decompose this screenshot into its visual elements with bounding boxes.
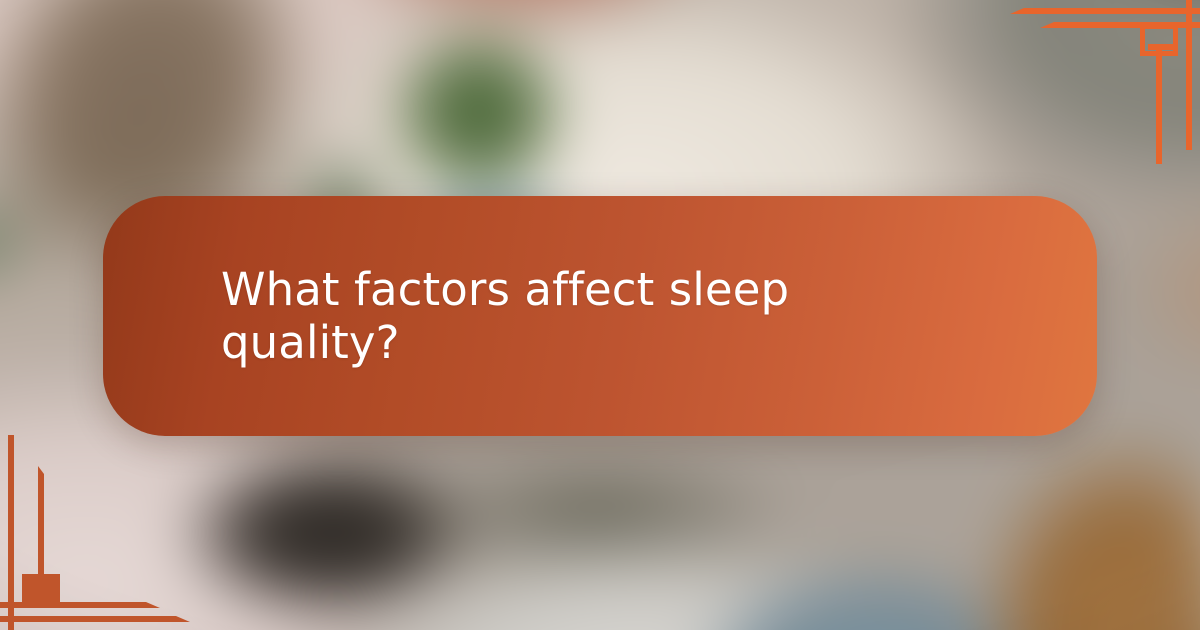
question-title: What factors affect sleep quality? xyxy=(221,263,979,369)
corner-ornament-bottom-left-icon xyxy=(0,430,210,630)
ornament-vertical-edge xyxy=(8,435,14,630)
ornament-outer-rule xyxy=(1010,8,1200,14)
ornament-vertical-edge xyxy=(1186,0,1192,150)
ornament-connector xyxy=(22,580,52,586)
ornament-outer-rule xyxy=(0,616,190,622)
ornament-stem xyxy=(38,466,44,584)
social-card-canvas: What factors affect sleep quality? xyxy=(0,0,1200,630)
ornament-connector xyxy=(1148,44,1178,50)
ornament-stem xyxy=(1156,46,1162,164)
corner-ornament-top-right-icon xyxy=(990,0,1200,155)
question-card: What factors affect sleep quality? xyxy=(103,196,1097,436)
